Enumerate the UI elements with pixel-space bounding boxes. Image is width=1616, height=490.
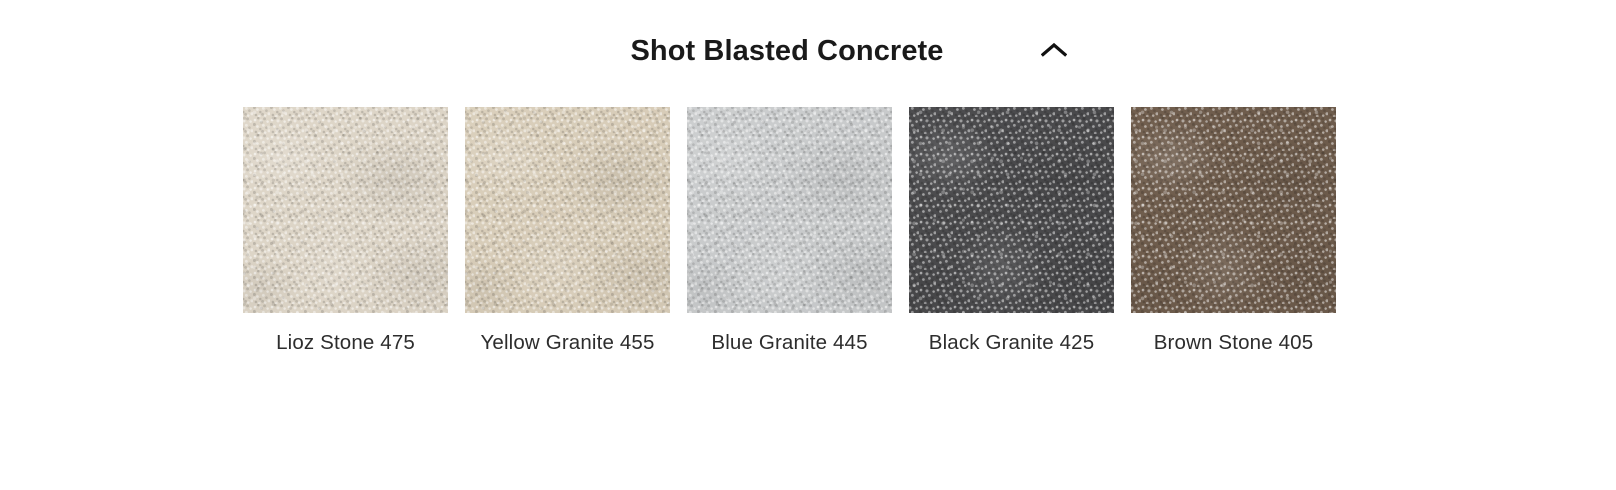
swatch-texture-overlay [243,107,448,313]
swatch-label: Brown Stone 405 [1154,331,1314,356]
shot-blasted-concrete-panel: Shot Blasted Concrete Lioz Stone 475 Yel… [0,0,1616,490]
panel-header[interactable]: Shot Blasted Concrete [243,26,1331,76]
page-title: Shot Blasted Concrete [630,37,943,66]
swatch-card-brown-stone-405[interactable]: Brown Stone 405 [1131,107,1336,356]
swatch-tile[interactable] [909,107,1114,313]
swatch-tile[interactable] [243,107,448,313]
swatch-label: Yellow Granite 455 [480,331,654,356]
swatch-card-blue-granite-445[interactable]: Blue Granite 445 [687,107,892,356]
chevron-up-icon[interactable] [1030,26,1078,74]
swatch-tile[interactable] [1131,107,1336,313]
swatch-texture-overlay [465,107,670,313]
swatch-card-black-granite-425[interactable]: Black Granite 425 [909,107,1114,356]
swatch-card-lioz-stone-475[interactable]: Lioz Stone 475 [243,107,448,356]
swatch-card-yellow-granite-455[interactable]: Yellow Granite 455 [465,107,670,356]
swatch-label: Lioz Stone 475 [276,331,415,356]
swatch-tile[interactable] [465,107,670,313]
swatch-row: Lioz Stone 475 Yellow Granite 455 Blue G… [243,107,1331,356]
swatch-texture-overlay [909,107,1114,313]
swatch-tile[interactable] [687,107,892,313]
swatch-label: Blue Granite 445 [711,331,867,356]
swatch-texture-overlay [1131,107,1336,313]
swatch-texture-overlay [687,107,892,313]
swatch-label: Black Granite 425 [929,331,1095,356]
